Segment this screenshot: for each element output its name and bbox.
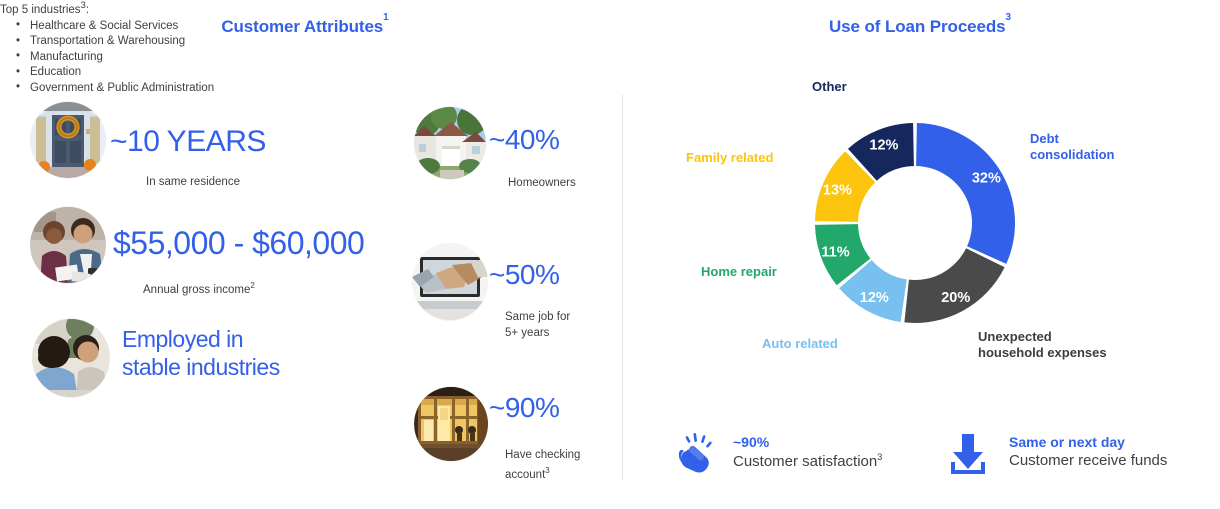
donut-slice-value-label: 11% <box>821 245 849 261</box>
attr-checking-account-caption-superscript: 3 <box>545 466 549 475</box>
attr-income-caption: Annual gross income2 <box>143 278 255 298</box>
suburban-house-photo <box>414 106 486 180</box>
couple-reviewing-documents-photo <box>30 206 106 284</box>
top-industries-heading-colon: : <box>86 4 89 16</box>
chart-category-label-line: consolidation <box>1030 147 1115 163</box>
funds-timing-caption: Customer receive funds <box>1009 452 1167 469</box>
download-arrow-icon <box>944 430 992 478</box>
attr-homeowners-value: ~40% <box>489 124 559 156</box>
chart-category-label-unexpected-household-expenses: Unexpected household expenses <box>978 329 1107 360</box>
front-door-autumn-wreath-photo <box>30 101 106 179</box>
attr-checking-account-caption-line2: account3 <box>505 463 580 483</box>
donut-slice-value-label: 20% <box>941 290 970 306</box>
attr-industry-value-line1: Employed in <box>122 325 280 353</box>
clapping-hands-icon <box>675 433 721 479</box>
list-item: Transportation & Warehousing <box>16 34 1220 50</box>
chart-category-label-other: Other <box>812 79 847 95</box>
customer-satisfaction-value: ~90% <box>733 434 769 450</box>
top-industries-heading: Top 5 industries3: <box>0 0 1220 16</box>
chart-category-label-line: Debt <box>1030 131 1115 147</box>
lit-storefront-photo <box>414 386 488 462</box>
handshake-over-laptop-photo <box>412 243 488 321</box>
chart-category-label-auto-related: Auto related <box>762 336 838 352</box>
chart-category-label-line: Other <box>812 79 847 95</box>
attr-checking-account-caption-line2-text: account <box>505 469 545 481</box>
chart-category-label-family-related: Family related <box>686 150 773 166</box>
attr-checking-account-caption: Have checking account3 <box>505 447 580 483</box>
women-in-conversation-photo <box>32 318 110 398</box>
attr-checking-account-value: ~90% <box>489 392 559 424</box>
list-item: Manufacturing <box>16 50 1220 66</box>
attr-industry-value-line2: stable industries <box>122 353 280 381</box>
funds-timing-value: Same or next day <box>1009 434 1125 450</box>
chart-category-label-home-repair: Home repair <box>701 264 777 280</box>
attr-checking-account-caption-line1: Have checking <box>505 447 580 463</box>
attr-same-job-caption-line2: 5+ years <box>505 325 570 341</box>
attr-same-job-caption-line1: Same job for <box>505 309 570 325</box>
customer-satisfaction-caption: Customer satisfaction3 <box>733 452 882 470</box>
customer-satisfaction-caption-text: Customer satisfaction <box>733 453 877 470</box>
top-industries-heading-text: Top 5 industries <box>0 4 81 16</box>
chart-category-label-line: Unexpected <box>978 329 1107 345</box>
donut-slice-value-label: 32% <box>972 171 1001 187</box>
chart-category-label-line: Home repair <box>701 264 777 280</box>
donut-slice-value-label: 12% <box>869 137 898 153</box>
attr-residence-caption: In same residence <box>146 174 240 190</box>
attr-income-caption-superscript: 2 <box>250 281 254 290</box>
donut-slice-value-label: 12% <box>860 290 889 306</box>
customer-satisfaction-caption-superscript: 3 <box>877 452 882 462</box>
donut-slice[interactable] <box>916 123 1015 264</box>
attr-homeowners-caption: Homeowners <box>508 175 576 191</box>
donut-slice[interactable] <box>904 248 1004 323</box>
attr-income-caption-text: Annual gross income <box>143 284 250 296</box>
attr-residence-value: ~10 YEARS <box>110 125 266 159</box>
attr-same-job-caption: Same job for 5+ years <box>505 309 570 341</box>
list-item: Healthcare & Social Services <box>16 19 1220 35</box>
donut-slice-value-label: 13% <box>823 182 852 198</box>
attr-income-value: $55,000 - $60,000 <box>113 225 364 262</box>
chart-category-label-line: Family related <box>686 150 773 166</box>
chart-category-label-line: Auto related <box>762 336 838 352</box>
attr-industry-value: Employed in stable industries <box>122 325 280 381</box>
panel-divider <box>622 95 623 480</box>
attr-same-job-value: ~50% <box>489 259 559 291</box>
chart-category-label-debt-consolidation: Debt consolidation <box>1030 131 1115 162</box>
chart-category-label-line: household expenses <box>978 345 1107 361</box>
